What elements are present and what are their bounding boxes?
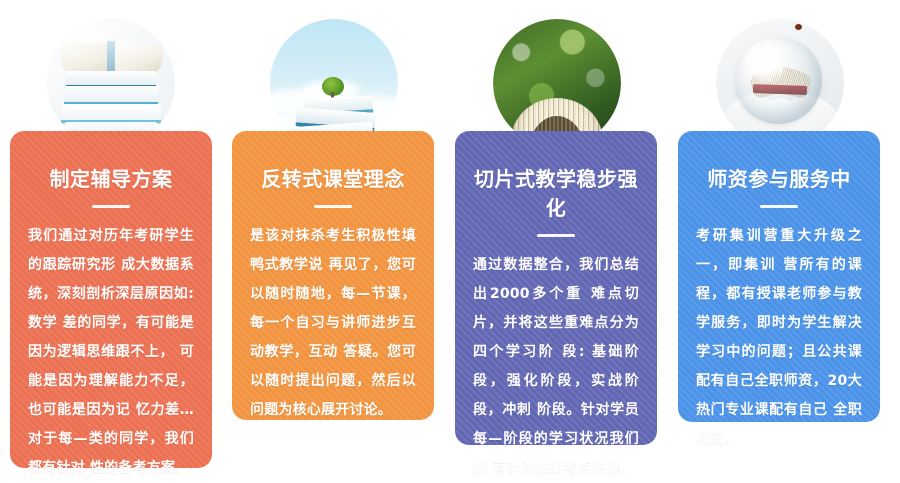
feature-card-title: 反转式课堂理念: [248, 163, 418, 192]
fanned-book-green-photo: [493, 19, 621, 147]
feature-card-body: 考研集训营重大升级之一，即集训 营所有的课程，都有授课老师参与教学服务，即时为学…: [694, 222, 864, 454]
feature-card-body: 通过数据整合，我们总结出2000多个重 难点切片，并将这些重难点分为四个学习阶 …: [471, 251, 641, 483]
feature-card-teachers-service[interactable]: 师资参与服务中 考研集训营重大升级之一，即集训 营所有的课程，都有授课老师参与教…: [678, 131, 880, 422]
glass-sphere: [735, 37, 822, 124]
feature-card-body: 我们通过对历年考研学生的跟踪研究形 成大数据系统，深刻剖析深层原因如: 数学 差…: [26, 222, 196, 483]
feature-card-plan[interactable]: 制定辅导方案 我们通过对历年考研学生的跟踪研究形 成大数据系统，深刻剖析深层原因…: [10, 131, 212, 468]
sapling-on-books-photo: [270, 19, 398, 147]
sapling-on-books-image: [270, 19, 398, 147]
fanned-book-image: [493, 19, 621, 147]
stacked-books-photo: [47, 19, 175, 147]
feature-cards-board: 制定辅导方案 我们通过对历年考研学生的跟踪研究形 成大数据系统，深刻剖析深层原因…: [0, 0, 900, 475]
title-divider: [760, 205, 798, 208]
glass-sphere-image: [716, 19, 844, 147]
book-layer: [61, 104, 161, 122]
feature-card-sliced-teaching[interactable]: 切片式教学稳步强化 通过数据整合，我们总结出2000多个重 难点切片，并将这些重…: [455, 131, 657, 445]
feature-card-title: 师资参与服务中: [694, 163, 864, 192]
title-divider: [92, 205, 130, 208]
title-divider: [537, 234, 575, 237]
book-in-glass-sphere-photo: [716, 19, 844, 147]
stacked-books-image: [47, 19, 175, 147]
feature-card-body: 是该对抹杀考生积极性填鸭式教学说 再见了，您可以随时随地，每—节课，每一个自习与…: [248, 222, 418, 425]
book-layer: [64, 86, 159, 104]
feature-card-title: 切片式教学稳步强化: [471, 163, 641, 221]
title-divider: [314, 205, 352, 208]
ladybug-icon: [795, 24, 802, 30]
feature-card-flipped-classroom[interactable]: 反转式课堂理念 是该对抹杀考生积极性填鸭式教学说 再见了，您可以随时随地，每—节…: [232, 131, 434, 420]
feature-card-title: 制定辅导方案: [26, 163, 196, 192]
